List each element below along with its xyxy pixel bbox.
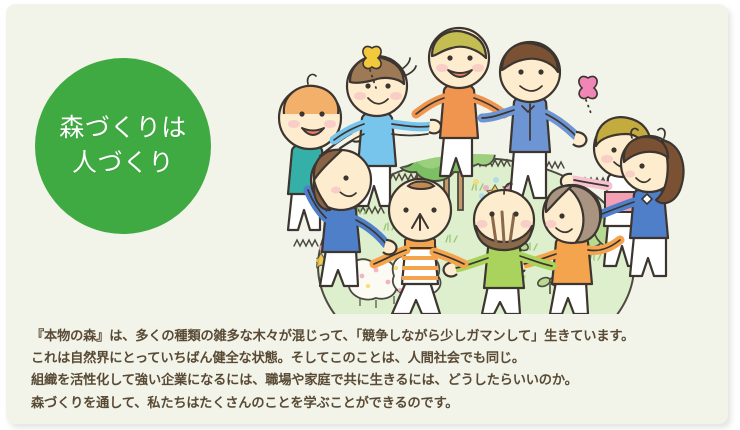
body-copy-line-3: 組織を活性化して強い企業になるには、職場や家庭で共に生きるには、どうしたらいいの… [31,369,711,391]
body-copy-line-1: 『本物の森』は、多くの種類の雑多な木々が混じって、「競争しながら少しガマンして」… [31,325,711,347]
banner-root: 森づくりは 人づくり .ol { fill:none; stroke:#3c35… [0,0,740,430]
butterfly-pink [579,76,597,116]
banner-card: 森づくりは 人づくり .ol { fill:none; stroke:#3c35… [6,4,728,424]
illustration-people-around-forest: .ol { fill:none; stroke:#3c3530; stroke-… [264,14,728,314]
person-orange-top [416,28,504,176]
body-copy-line-2: これは自然界にとっていちばん健全な状態。そしてこのことは、人間社会でも同じ。 [31,347,711,369]
body-copy-line-4: 森づくりを通して、私たちはたくさんのことを学ぶことができるのです。 [31,392,711,414]
catchphrase-badge-text: 森づくりは 人づくり [59,111,187,182]
body-copy: 『本物の森』は、多くの種類の雑多な木々が混じって、「競争しながら少しガマンして」… [31,325,711,414]
catchphrase-badge: 森づくりは 人づくり [35,58,211,234]
